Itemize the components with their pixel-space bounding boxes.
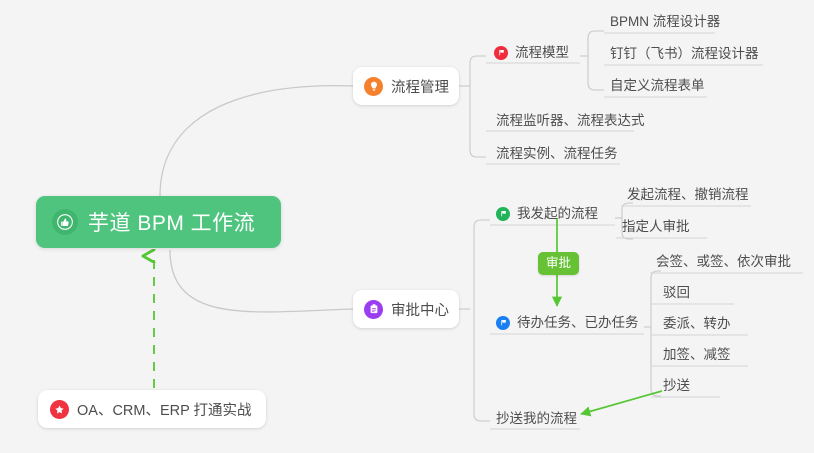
leaf-flow-instance-task[interactable]: 流程实例、流程任务 [490,145,624,166]
leaf-carbon-copy[interactable]: 抄送 [657,377,696,398]
wire-root-to-flow-management [160,86,353,196]
flag-icon-green [496,207,510,221]
wire-approval-center-bracket [474,220,490,421]
branch-node-flow-management-label: 流程管理 [391,76,449,97]
flag-icon-red [494,46,508,60]
wire-flow-mgmt-bracket [470,56,486,157]
leaf-designated-approval-label: 指定人审批 [622,219,690,234]
leaf-dingtalk-feishu-designer[interactable]: 钉钉（飞书）流程设计器 [604,45,765,66]
leaf-carbon-copy-label: 抄送 [663,378,690,393]
leaf-cc-to-me-flow-label: 抄送我的流程 [496,411,577,426]
leaf-countersign-orsign-sequential-label: 会签、或签、依次审批 [656,254,791,269]
leaf-flow-model[interactable]: 流程模型 [492,44,575,65]
leaf-countersign-orsign-sequential[interactable]: 会签、或签、依次审批 [650,253,797,274]
leaf-cc-to-me-flow[interactable]: 抄送我的流程 [490,410,583,431]
leaf-delegate-transfer[interactable]: 委派、转办 [657,315,737,336]
leaf-todo-done-tasks[interactable]: 待办任务、已办任务 [494,314,645,335]
leaf-designated-approval[interactable]: 指定人审批 [616,218,696,239]
leaf-flow-instance-task-label: 流程实例、流程任务 [496,146,618,161]
annotation-badge-approve: 审批 [538,252,579,275]
flag-icon-blue [496,316,510,330]
note-card-oa-crm-erp[interactable]: OA、CRM、ERP 打通实战 [38,390,266,428]
mindmap-canvas: 芋道 BPM 工作流 流程管理 审批中心 [0,0,814,453]
leaf-my-initiated-flow[interactable]: 我发起的流程 [494,205,604,226]
leaf-bpmn-designer[interactable]: BPMN 流程设计器 [604,13,726,34]
leaf-dingtalk-feishu-designer-label: 钉钉（飞书）流程设计器 [610,46,759,61]
leaf-start-cancel-flow[interactable]: 发起流程、撤销流程 [621,186,755,207]
wire-root-to-approval-center [170,250,353,312]
note-card-label: OA、CRM、ERP 打通实战 [77,399,252,420]
branch-node-flow-management[interactable]: 流程管理 [353,67,459,105]
wire-flow-model-bracket [588,31,604,90]
leaf-flow-model-label: 流程模型 [515,44,569,61]
branch-node-approval-center[interactable]: 审批中心 [353,290,459,328]
leaf-my-initiated-flow-label: 我发起的流程 [517,205,598,222]
leaf-bpmn-designer-label: BPMN 流程设计器 [610,14,720,29]
thumbs-up-icon [52,209,78,235]
lightbulb-icon [364,77,383,96]
leaf-flow-listener-expression[interactable]: 流程监听器、流程表达式 [490,112,651,133]
root-node-label: 芋道 BPM 工作流 [88,207,255,237]
root-node[interactable]: 芋道 BPM 工作流 [36,196,281,248]
leaf-delegate-transfer-label: 委派、转办 [663,316,731,331]
clipboard-icon [364,300,383,319]
branch-node-approval-center-label: 审批中心 [391,299,449,320]
arrow-cc-to-flow [581,391,662,414]
leaf-todo-done-tasks-label: 待办任务、已办任务 [517,314,639,331]
leaf-start-cancel-flow-label: 发起流程、撤销流程 [627,187,749,202]
leaf-flow-listener-expression-label: 流程监听器、流程表达式 [496,113,645,128]
leaf-add-remove-sign-label: 加签、减签 [663,347,731,362]
leaf-custom-flow-form-label: 自定义流程表单 [610,78,705,93]
star-icon [50,400,69,419]
leaf-reject[interactable]: 驳回 [657,284,696,305]
leaf-add-remove-sign[interactable]: 加签、减签 [657,346,737,367]
leaf-custom-flow-form[interactable]: 自定义流程表单 [604,77,711,98]
leaf-reject-label: 驳回 [663,285,690,300]
